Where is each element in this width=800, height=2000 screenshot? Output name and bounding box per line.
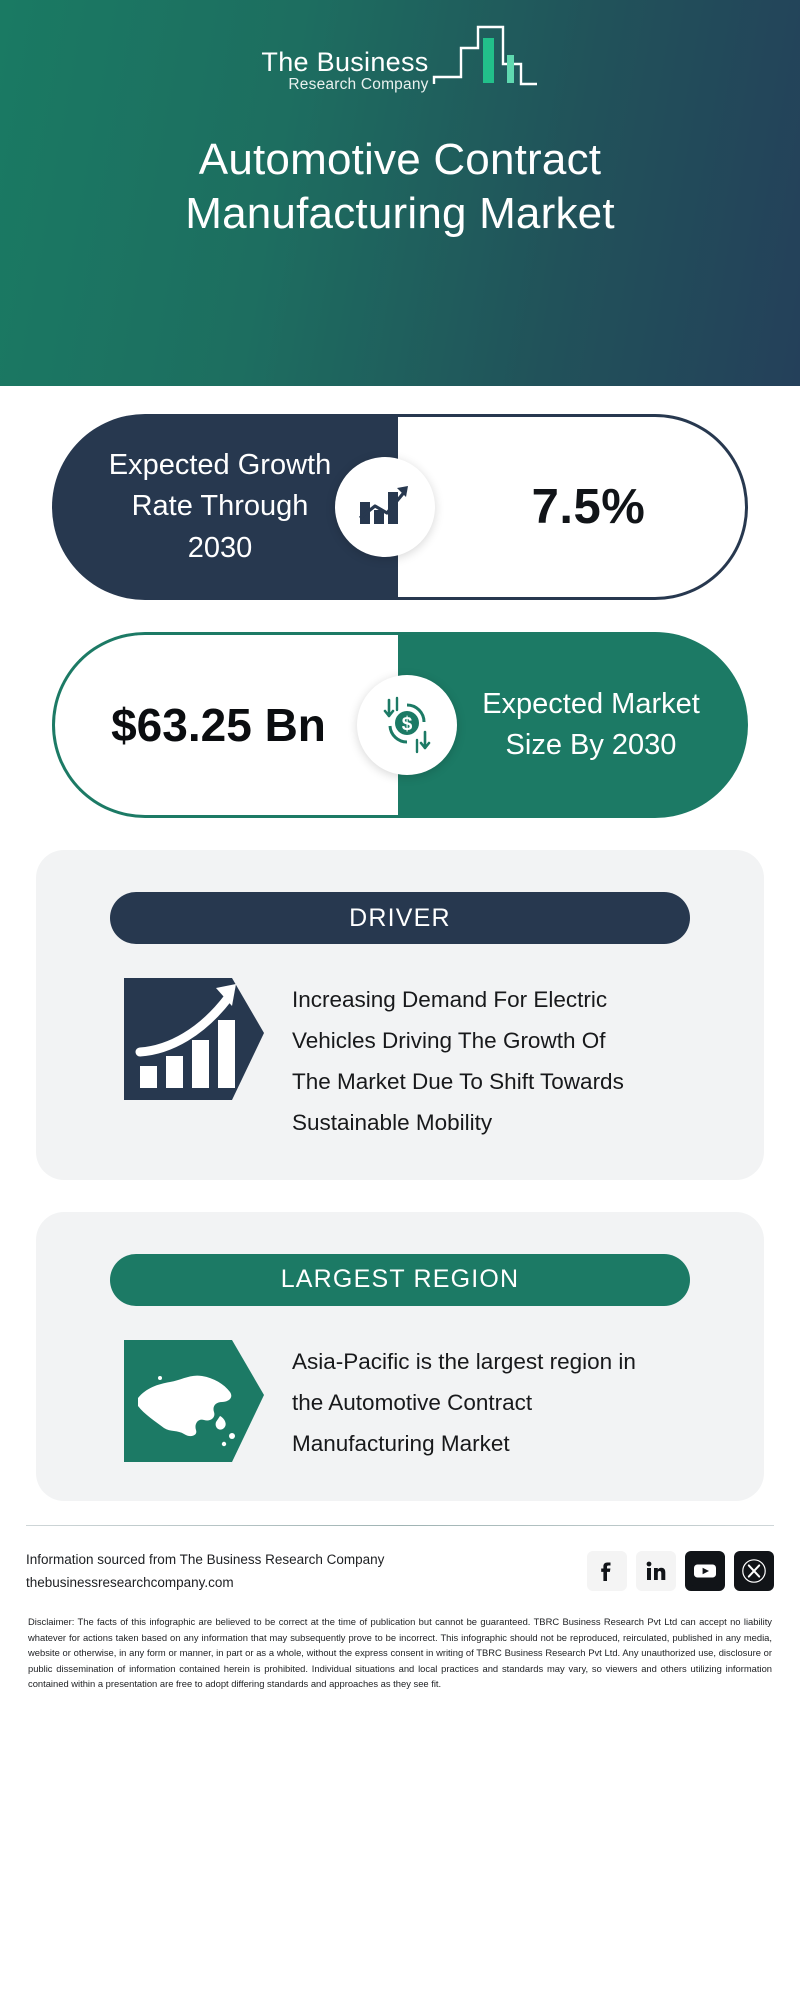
stat-value-text: 7.5%	[532, 479, 646, 535]
logo-wordmark: The Business Research Company	[261, 48, 428, 99]
infographic-page: The Business Research Company Automotive…	[0, 0, 800, 2000]
asia-map-icon	[124, 1340, 264, 1462]
spacer	[0, 1180, 800, 1212]
footer: Information sourced from The Business Re…	[0, 1501, 800, 1692]
driver-panel: DRIVER Increasing Demand For Electric Ve…	[36, 850, 764, 1180]
stat-value-text: $63.25 Bn	[104, 697, 334, 753]
largest-region-description: Asia-Pacific is the largest region in th…	[292, 1340, 642, 1465]
linkedin-icon[interactable]	[636, 1551, 676, 1591]
dollar-circular-arrows-icon: $	[357, 675, 457, 775]
facebook-icon[interactable]	[587, 1551, 627, 1591]
stat-card-market-size: $63.25 Bn Expected Market Size By 2030 $	[52, 632, 748, 818]
largest-region-ribbon-label: LARGEST REGION	[281, 1265, 520, 1294]
driver-description: Increasing Demand For Electric Vehicles …	[292, 978, 642, 1144]
growth-bar-chart-arrow-icon	[335, 457, 435, 557]
rising-bar-chart-arrow-icon	[124, 978, 264, 1100]
stat-value-panel: $63.25 Bn	[52, 632, 398, 818]
disclaimer-text: Disclaimer: The facts of this infographi…	[28, 1614, 772, 1692]
stats-band: Expected Growth Rate Through 2030 7.5% $…	[0, 414, 800, 818]
largest-region-content: Asia-Pacific is the largest region in th…	[124, 1340, 764, 1465]
company-logo: The Business Research Company	[261, 22, 538, 99]
source-line-2[interactable]: thebusinessresearchcompany.com	[26, 1571, 384, 1594]
stat-label-text: Expected Market Size By 2030	[476, 684, 706, 766]
driver-content: Increasing Demand For Electric Vehicles …	[124, 978, 764, 1144]
stat-value-panel: 7.5%	[398, 414, 748, 600]
source-line-1: Information sourced from The Business Re…	[26, 1548, 384, 1571]
footer-divider	[26, 1525, 774, 1526]
footer-source: Information sourced from The Business Re…	[26, 1548, 384, 1594]
driver-ribbon-label: DRIVER	[349, 904, 451, 933]
spacer	[0, 818, 800, 850]
stat-card-growth-rate: Expected Growth Rate Through 2030 7.5%	[52, 414, 748, 600]
driver-ribbon: DRIVER	[110, 892, 690, 944]
logo-line-2: Research Company	[261, 76, 428, 95]
header-banner: The Business Research Company Automotive…	[0, 0, 800, 386]
logo-bar-chart-icon	[431, 22, 539, 97]
stat-label-text: Expected Growth Rate Through 2030	[100, 445, 340, 569]
x-twitter-icon[interactable]	[734, 1551, 774, 1591]
logo-line-1: The Business	[261, 48, 428, 76]
page-title: Automotive Contract Manufacturing Market	[80, 133, 720, 240]
youtube-icon[interactable]	[685, 1551, 725, 1591]
largest-region-panel: LARGEST REGION Asia-Pacific is the large…	[36, 1212, 764, 1501]
largest-region-ribbon: LARGEST REGION	[110, 1254, 690, 1306]
svg-text:$: $	[402, 714, 413, 735]
footer-row: Information sourced from The Business Re…	[26, 1544, 774, 1608]
social-links	[587, 1551, 774, 1591]
